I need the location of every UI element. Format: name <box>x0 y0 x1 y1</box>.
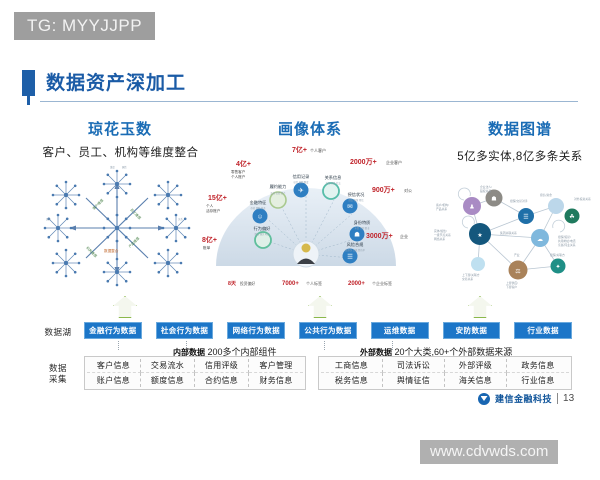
svg-text:账单: 账单 <box>203 245 211 250</box>
table-cell[interactable]: 账户信息 <box>87 373 141 387</box>
svg-text:7亿+: 7亿+ <box>292 145 307 154</box>
svg-text:担保/交易对手: 担保/交易对手 <box>510 199 528 203</box>
svg-text:实体: 实体 <box>46 217 51 221</box>
svg-text:亲属 同事 社交: 亲属 同事 社交 <box>325 181 341 185</box>
svg-text:2000+: 2000+ <box>348 281 365 287</box>
table-cell[interactable]: 额度信息 <box>141 373 195 387</box>
diagram-knowledge-graph: ♟☗ ☰☘ ★☁ ⚖✦ 客户/机构/ 产品关系 企业法人/ 股权关系 担保/交易… <box>432 176 596 292</box>
column-heading-qionghua: 琼花玉数 <box>40 118 200 139</box>
diagram-portrait-system: ✈ ✉ ☺ ☗ ☰ 履约能力 信用记录 关系信息 授信状况 金融特征 行为偏好 … <box>200 142 412 294</box>
table-cell[interactable]: 税务信息 <box>321 373 383 387</box>
bottom-watermark: www.cdvwds.com <box>420 440 558 464</box>
svg-text:4亿+: 4亿+ <box>236 159 251 168</box>
svg-text:3000万+: 3000万+ <box>366 232 393 240</box>
table-cell[interactable]: 信用评级 <box>195 359 249 373</box>
row-label-data-collection: 数据 采集 <box>38 363 78 384</box>
collect-label-line1: 数据 <box>49 363 67 373</box>
svg-text:个人标签: 个人标签 <box>306 280 322 286</box>
svg-text:关系信息: 关系信息 <box>325 174 342 181</box>
slide-header: 数据资产深加工 <box>22 68 578 102</box>
svg-text:风险合规: 风险合规 <box>347 241 364 248</box>
data-lake-chip-row: 金融行为数据 社会行为数据 网络行为数据 公共行为数据 运维数据 安防数据 行业… <box>84 322 572 339</box>
svg-text:☰: ☰ <box>347 254 353 261</box>
row-label-data-lake: 数据湖 <box>38 327 78 338</box>
svg-text:产业: 产业 <box>514 253 520 257</box>
column-subtitle-graph: 5亿多实体,8亿多条关系 <box>440 148 600 164</box>
table-cell[interactable]: 客户信息 <box>87 359 141 373</box>
lake-chip-financial[interactable]: 金融行为数据 <box>84 322 142 339</box>
svg-text:☁: ☁ <box>537 237 543 243</box>
connector-dot-3 <box>324 341 325 350</box>
svg-text:☗: ☗ <box>354 231 360 239</box>
table-cell[interactable]: 财务信息 <box>249 373 303 387</box>
svg-text:下游客户: 下游客户 <box>506 285 517 289</box>
svg-text:个人: 个人 <box>206 203 214 208</box>
collect-label-line2: 采集 <box>49 374 67 384</box>
table-cell[interactable]: 工商信息 <box>321 359 383 373</box>
table-cell[interactable]: 司法诉讼 <box>383 359 445 373</box>
svg-text:♟: ♟ <box>469 204 474 211</box>
svg-text:集团关联关系: 集团关联关系 <box>500 231 517 235</box>
svg-text:✉: ✉ <box>347 204 353 211</box>
svg-text:企业: 企业 <box>400 233 408 239</box>
svg-text:信用记录: 信用记录 <box>293 173 310 180</box>
svg-text:☘: ☘ <box>569 214 574 221</box>
svg-text:征信 逾期 额度: 征信 逾期 额度 <box>293 180 309 184</box>
external-source-table: 工商信息 司法诉讼 外部评级 政务信息 税务信息 舆情征信 海关信息 行业信息 <box>318 356 572 390</box>
svg-text:关系: 关系 <box>178 217 183 221</box>
table-cell[interactable]: 海关信息 <box>445 373 507 387</box>
company-logo-icon <box>478 393 490 405</box>
svg-text:履约能力: 履约能力 <box>270 183 287 190</box>
company-name: 建信金融科技 <box>495 392 552 405</box>
svg-text:产品维度: 产品维度 <box>127 235 141 249</box>
svg-text:授信状况: 授信状况 <box>348 191 366 198</box>
up-arrow-icon-right <box>468 296 492 318</box>
svg-text:零售客户: 零售客户 <box>231 169 246 174</box>
svg-text:✦: ✦ <box>555 264 560 271</box>
svg-text:8天: 8天 <box>228 280 237 287</box>
svg-text:7000+: 7000+ <box>282 281 299 287</box>
svg-text:投资偏好: 投资偏好 <box>240 281 255 286</box>
lake-chip-security[interactable]: 安防数据 <box>443 322 501 339</box>
internal-source-table: 客户信息 交易流水 信用评级 客户管理 账户信息 额度信息 合约信息 财务信息 <box>84 356 306 390</box>
svg-text:产品关系: 产品关系 <box>436 207 447 211</box>
lake-chip-public[interactable]: 公共行为数据 <box>299 322 357 339</box>
svg-text:8亿+: 8亿+ <box>202 235 217 244</box>
svg-text:✈: ✈ <box>298 188 304 195</box>
svg-text:股权关系: 股权关系 <box>480 189 491 193</box>
svg-text:交易关系: 交易关系 <box>462 277 473 281</box>
slide-footer: 建信金融科技 13 <box>478 392 574 405</box>
svg-text:个企业标签: 个企业标签 <box>372 280 392 286</box>
svg-text:活存账户: 活存账户 <box>206 208 221 213</box>
svg-text:对外投资关系: 对外投资关系 <box>574 197 591 201</box>
column-heading-graph: 数据图谱 <box>455 118 585 139</box>
svg-text:⚖: ⚖ <box>515 268 521 275</box>
svg-text:2000万+: 2000万+ <box>350 158 377 166</box>
svg-text:属性: 属性 <box>122 165 127 169</box>
svg-text:15亿+: 15亿+ <box>208 193 227 202</box>
table-cell[interactable]: 行业信息 <box>507 373 569 387</box>
svg-text:★: ★ <box>477 232 482 239</box>
svg-text:个人账户: 个人账户 <box>231 174 246 179</box>
table-cell[interactable]: 舆情征信 <box>383 373 445 387</box>
table-cell[interactable]: 政务信息 <box>507 359 569 373</box>
svg-text:☗: ☗ <box>491 196 496 203</box>
svg-text:客户维度: 客户维度 <box>91 197 105 211</box>
svg-text:行为偏好: 行为偏好 <box>254 225 271 232</box>
svg-text:对公: 对公 <box>404 187 412 193</box>
lake-chip-ops[interactable]: 运维数据 <box>371 322 429 339</box>
svg-text:☺: ☺ <box>257 214 264 221</box>
table-cell[interactable]: 客户管理 <box>249 359 303 373</box>
svg-text:金融特征: 金融特征 <box>250 199 268 206</box>
lake-chip-industry[interactable]: 行业数据 <box>514 322 572 339</box>
page-title: 数据资产深加工 <box>46 68 186 95</box>
svg-text:数据整合: 数据整合 <box>104 248 119 253</box>
table-cell[interactable]: 交易流水 <box>141 359 195 373</box>
svg-text:个人客户: 个人客户 <box>310 147 326 153</box>
svg-text:网络关系: 网络关系 <box>434 237 445 241</box>
svg-text:企业客户: 企业客户 <box>386 159 402 165</box>
lake-chip-network[interactable]: 网络行为数据 <box>227 322 285 339</box>
svg-text:维度: 维度 <box>110 165 115 169</box>
lake-chip-social[interactable]: 社会行为数据 <box>156 322 214 339</box>
footer-divider <box>557 393 558 404</box>
table-cell[interactable]: 外部评级 <box>445 359 507 373</box>
svg-text:900万+: 900万+ <box>372 186 395 194</box>
title-divider <box>40 101 578 102</box>
title-bullet-icon <box>22 70 35 96</box>
up-arrow-icon-center <box>308 296 332 318</box>
table-cell[interactable]: 合约信息 <box>195 373 249 387</box>
diagram-radial-network: 维度属性 实体关系 客户维度 员工维度 机构维度 产品维度 数据整合 <box>18 162 216 294</box>
page-number: 13 <box>563 393 574 404</box>
svg-text:担保/关联方: 担保/关联方 <box>550 253 565 257</box>
column-heading-portrait: 画像体系 <box>245 118 375 139</box>
up-arrow-icon-left <box>113 296 137 318</box>
connector-dot-1 <box>118 341 119 350</box>
svg-text:授信/资金: 授信/资金 <box>540 193 552 197</box>
top-watermark-banner: TG: MYYJJPP <box>14 12 155 40</box>
svg-text:☰: ☰ <box>523 214 528 221</box>
svg-text:身份特质: 身份特质 <box>354 219 371 226</box>
svg-text:亲属/同业关系: 亲属/同业关系 <box>558 243 576 247</box>
